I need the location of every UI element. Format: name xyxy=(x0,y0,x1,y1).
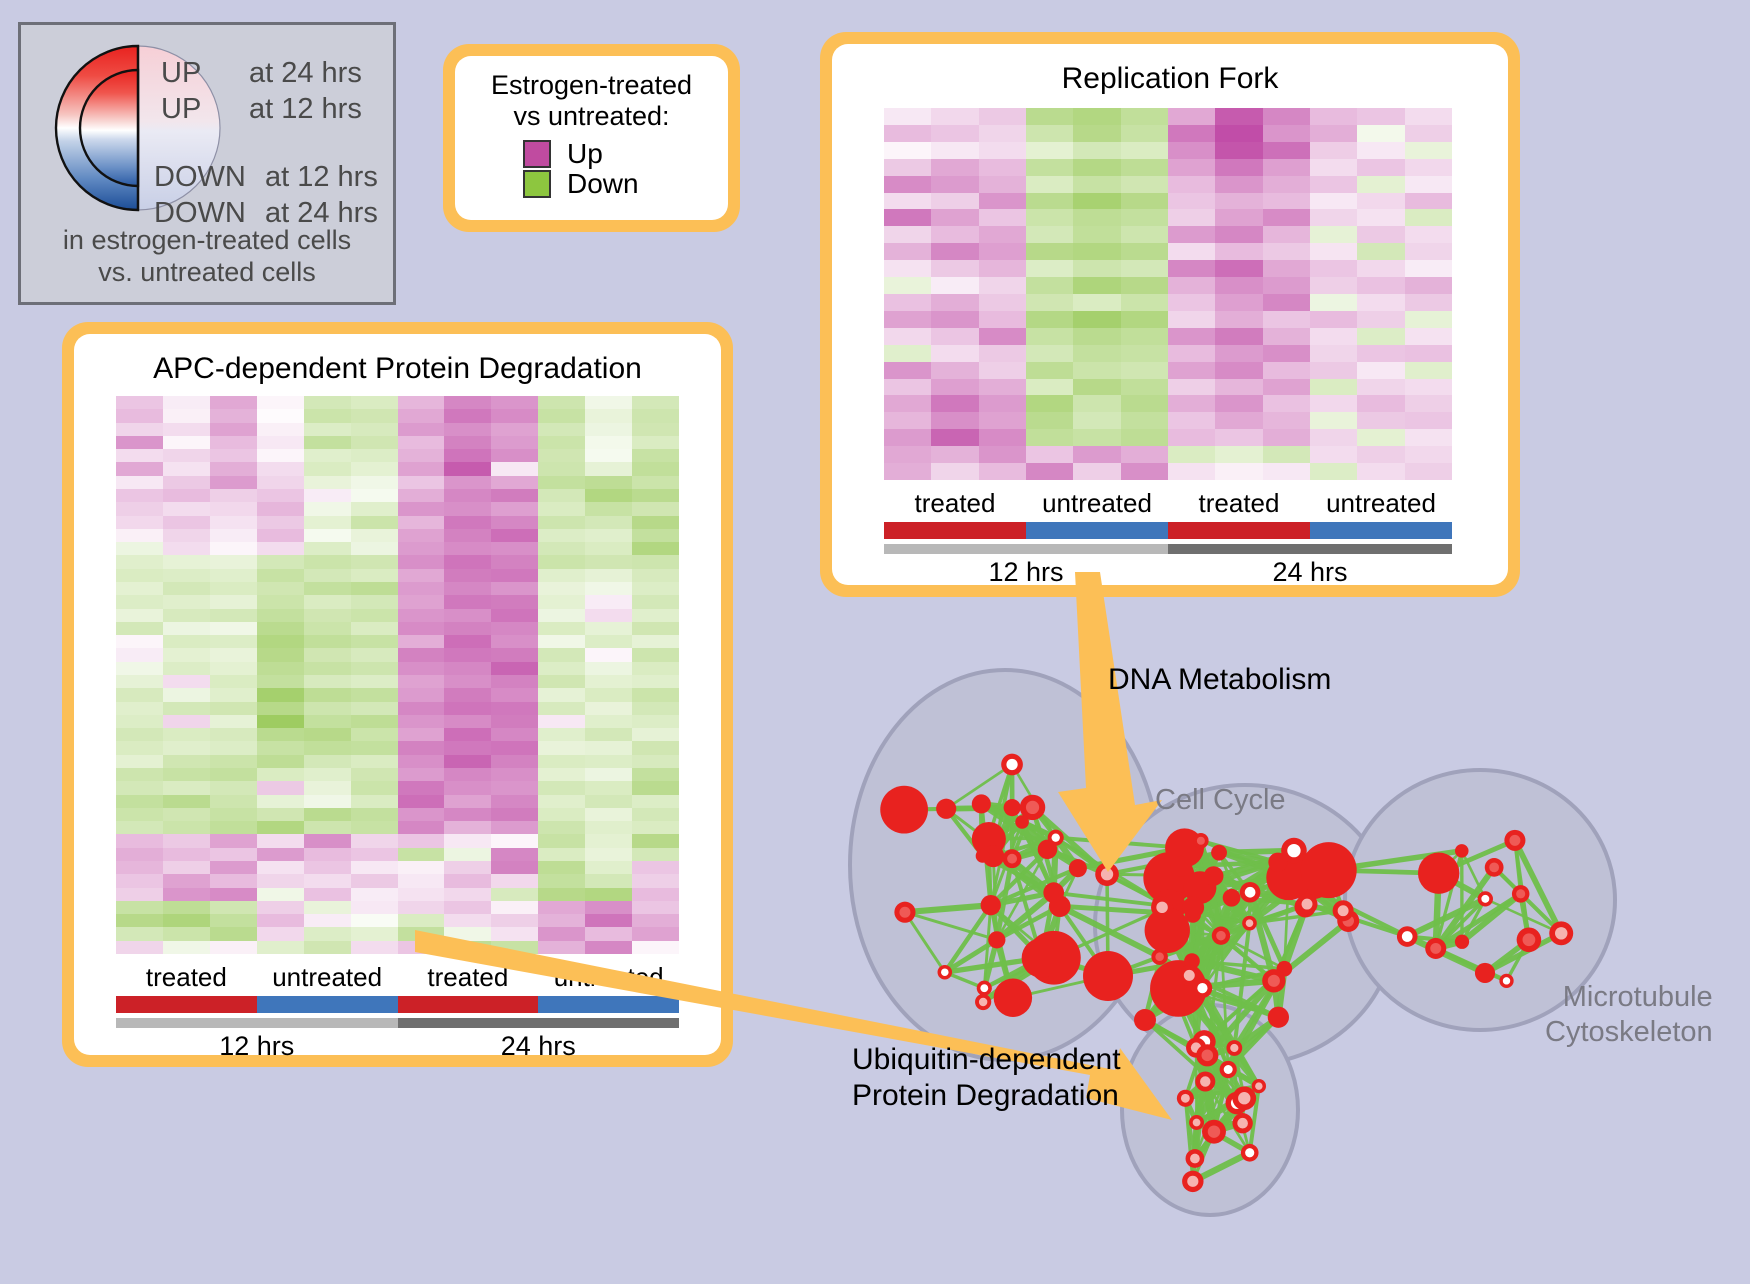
heatmap-cell xyxy=(210,648,257,661)
heatmap-cell xyxy=(931,176,978,193)
heatmap-cell xyxy=(491,409,538,422)
heatmap-cell xyxy=(351,914,398,927)
heatmap-cell xyxy=(163,462,210,475)
heatmap-cell xyxy=(979,209,1026,226)
network-node-core xyxy=(979,998,987,1006)
heatmap-cell xyxy=(210,795,257,808)
heatmap-cell xyxy=(632,542,679,555)
wheel-caption: in estrogen-treated cells vs. untreated … xyxy=(21,225,393,289)
heatmap-cell xyxy=(1357,395,1404,412)
heatmap-cell xyxy=(1121,429,1168,446)
network-node-core xyxy=(1481,895,1489,903)
heatmap-cell xyxy=(632,569,679,582)
heatmap-cell xyxy=(585,834,632,847)
heatmap-cell xyxy=(1357,193,1404,210)
heatmap-cell xyxy=(398,489,445,502)
heatmap-cell xyxy=(351,834,398,847)
network-node xyxy=(988,931,1005,948)
heatmap-cell xyxy=(1357,446,1404,463)
heatmap-cell xyxy=(632,595,679,608)
heatmap-cell xyxy=(210,808,257,821)
heatmap-cell xyxy=(1168,463,1215,480)
condition-label: untreated xyxy=(257,962,398,993)
heatmap-cell xyxy=(585,808,632,821)
heatmap-cell xyxy=(931,108,978,125)
heatmap-cell xyxy=(351,542,398,555)
heatmap-cell xyxy=(1405,294,1452,311)
heatmap-cell xyxy=(444,874,491,887)
replication-fork-time-labels: 12 hrs24 hrs xyxy=(884,557,1452,588)
heatmap-cell xyxy=(444,436,491,449)
time-label: 24 hrs xyxy=(398,1031,680,1062)
heatmap-cell xyxy=(1026,362,1073,379)
heatmap-cell xyxy=(1073,209,1120,226)
heatmap-cell xyxy=(116,635,163,648)
heatmap-cell xyxy=(351,768,398,781)
condition-label: treated xyxy=(116,962,257,993)
heatmap-cell xyxy=(116,755,163,768)
network-node xyxy=(981,895,1001,915)
heatmap-cell xyxy=(210,941,257,954)
heatmap-cell xyxy=(1215,311,1262,328)
condition-colour-segment xyxy=(1168,522,1310,539)
heatmap-cell xyxy=(257,768,304,781)
heatmap-cell xyxy=(116,502,163,515)
label-ubiquitin-protein-degradation: Ubiquitin-dependent Protein Degradation xyxy=(852,1042,1121,1114)
heatmap-cell xyxy=(163,449,210,462)
heatmap-cell xyxy=(1073,193,1120,210)
heatmap-cell xyxy=(884,463,931,480)
heatmap-cell xyxy=(585,941,632,954)
heatmap-cell xyxy=(257,781,304,794)
heatmap-cell xyxy=(585,702,632,715)
heatmap-cell xyxy=(304,888,351,901)
heatmap-cell xyxy=(351,569,398,582)
heatmap-cell xyxy=(1405,176,1452,193)
heatmap-cell xyxy=(491,462,538,475)
heatmap-cell xyxy=(116,436,163,449)
apc-condition-bar xyxy=(116,996,679,1013)
heatmap-cell xyxy=(1026,277,1073,294)
heatmap-cell xyxy=(1405,412,1452,429)
heatmap-cell xyxy=(304,436,351,449)
heatmap-cell xyxy=(538,834,585,847)
heatmap-cell xyxy=(1026,379,1073,396)
network-node xyxy=(1182,897,1204,919)
heatmap-cell xyxy=(632,821,679,834)
heatmap-cell xyxy=(538,688,585,701)
condition-colour-segment xyxy=(884,522,1026,539)
heatmap-cell xyxy=(351,662,398,675)
heatmap-cell xyxy=(163,476,210,489)
heatmap-cell xyxy=(304,702,351,715)
heatmap-cell xyxy=(257,702,304,715)
heatmap-cell xyxy=(1168,379,1215,396)
heatmap-cell xyxy=(538,848,585,861)
heatmap-cell xyxy=(116,462,163,475)
heatmap-cell xyxy=(444,516,491,529)
heatmap-cell xyxy=(444,569,491,582)
heatmap-cell xyxy=(257,489,304,502)
heatmap-cell xyxy=(210,582,257,595)
heatmap-cell xyxy=(632,409,679,422)
network-node-core xyxy=(1007,854,1017,864)
heatmap-cell xyxy=(351,529,398,542)
heatmap-cell xyxy=(1121,243,1168,260)
heatmap-cell xyxy=(1073,108,1120,125)
heatmap-cell xyxy=(1405,193,1452,210)
heatmap-cell xyxy=(257,648,304,661)
heatmap-cell xyxy=(538,901,585,914)
heatmap-cell xyxy=(1310,243,1357,260)
heatmap-cell xyxy=(1168,193,1215,210)
heatmap-cell xyxy=(632,755,679,768)
heatmap-cell xyxy=(304,648,351,661)
heatmap-cell xyxy=(1073,328,1120,345)
heatmap-cell xyxy=(538,516,585,529)
network-node-core xyxy=(1268,975,1280,987)
heatmap-cell xyxy=(351,516,398,529)
heatmap-cell xyxy=(1405,395,1452,412)
heatmap-cell xyxy=(210,702,257,715)
heatmap-cell xyxy=(210,409,257,422)
heatmap-cell xyxy=(398,874,445,887)
network-node-core xyxy=(1338,905,1349,916)
heatmap-cell xyxy=(585,861,632,874)
heatmap-cell xyxy=(538,423,585,436)
heatmap-cell xyxy=(163,941,210,954)
heatmap-cell xyxy=(632,476,679,489)
heatmap-cell xyxy=(257,728,304,741)
heatmap-cell xyxy=(884,108,931,125)
heatmap-cell xyxy=(538,715,585,728)
heatmap-cell xyxy=(1121,277,1168,294)
heatmap-cell xyxy=(1073,142,1120,159)
heatmap-cell xyxy=(491,648,538,661)
heatmap-cell xyxy=(1121,412,1168,429)
heatmap-cell xyxy=(304,396,351,409)
heatmap-cell xyxy=(491,622,538,635)
heatmap-cell xyxy=(979,142,1026,159)
heatmap-cell xyxy=(1121,463,1168,480)
heatmap-cell xyxy=(163,609,210,622)
heatmap-cell xyxy=(1310,446,1357,463)
heatmap-cell xyxy=(491,914,538,927)
heatmap-cell xyxy=(1405,277,1452,294)
heatmap-cell xyxy=(538,821,585,834)
heatmap-cell xyxy=(1121,108,1168,125)
heatmap-cell xyxy=(585,502,632,515)
heatmap-cell xyxy=(1215,429,1262,446)
heatmap-cell xyxy=(538,436,585,449)
heatmap-cell xyxy=(585,662,632,675)
heatmap-cell xyxy=(351,675,398,688)
heatmap-cell xyxy=(116,476,163,489)
network-node xyxy=(1069,859,1087,877)
heatmap-cell xyxy=(585,423,632,436)
heatmap-cell xyxy=(1263,260,1310,277)
colour-wheel-legend-box: UP at 24 hrs UP at 12 hrs DOWN at 12 hrs… xyxy=(18,22,396,305)
heatmap-cell xyxy=(931,429,978,446)
heatmap-cell xyxy=(210,901,257,914)
heatmap-cell xyxy=(1310,328,1357,345)
heatmap-cell xyxy=(116,901,163,914)
heatmap-cell xyxy=(116,861,163,874)
heatmap-cell xyxy=(257,569,304,582)
heatmap-cell xyxy=(304,688,351,701)
network-node-core xyxy=(1509,835,1520,846)
heatmap-cell xyxy=(398,888,445,901)
heatmap-cell xyxy=(163,808,210,821)
heatmap-cell xyxy=(884,243,931,260)
network-node xyxy=(1043,882,1064,903)
label-dna-metabolism: DNA Metabolism xyxy=(1108,662,1331,698)
heatmap-cell xyxy=(1310,260,1357,277)
heatmap-cell xyxy=(1310,193,1357,210)
heatmap-cell xyxy=(257,595,304,608)
heatmap-cell xyxy=(979,226,1026,243)
heatmap-cell xyxy=(1405,311,1452,328)
heatmap-cell xyxy=(884,412,931,429)
heatmap-cell xyxy=(210,888,257,901)
heatmap-cell xyxy=(1215,209,1262,226)
heatmap-cell xyxy=(632,675,679,688)
heatmap-cell xyxy=(163,834,210,847)
heatmap-cell xyxy=(632,741,679,754)
heatmap-cell xyxy=(210,755,257,768)
heatmap-cell xyxy=(351,795,398,808)
time-colour-segment xyxy=(1168,544,1452,554)
up-swatch xyxy=(523,140,551,168)
heatmap-cell xyxy=(632,449,679,462)
network-node-core xyxy=(899,907,910,918)
heatmap-cell xyxy=(1168,226,1215,243)
heatmap-cell xyxy=(163,396,210,409)
heatmap-cell xyxy=(163,529,210,542)
heatmap-cell xyxy=(1121,395,1168,412)
network-node xyxy=(1455,935,1469,949)
heatmap-cell xyxy=(444,396,491,409)
heatmap-cell xyxy=(491,755,538,768)
heatmap-cell xyxy=(1310,412,1357,429)
network-node xyxy=(1268,1007,1289,1028)
network-node-core xyxy=(1230,1044,1238,1052)
heatmap-cell xyxy=(1073,395,1120,412)
heatmap-cell xyxy=(304,808,351,821)
heatmap-cell xyxy=(1263,311,1310,328)
heatmap-cell xyxy=(1168,446,1215,463)
heatmap-cell xyxy=(1357,463,1404,480)
heatmap-cell xyxy=(351,808,398,821)
heatmap-cell xyxy=(444,741,491,754)
heatmap-cell xyxy=(1310,311,1357,328)
heatmap-cell xyxy=(1215,412,1262,429)
network-node xyxy=(1134,1009,1156,1031)
heatmap-cell xyxy=(585,476,632,489)
heatmap-cell xyxy=(257,808,304,821)
heatmap-cell xyxy=(257,609,304,622)
heatmap-cell xyxy=(931,311,978,328)
heatmap-cell xyxy=(398,821,445,834)
heatmap-cell xyxy=(632,688,679,701)
heatmap-cell xyxy=(979,328,1026,345)
heatmap-cell xyxy=(491,702,538,715)
heatmap-cell xyxy=(632,941,679,954)
heatmap-cell xyxy=(304,476,351,489)
heatmap-cell xyxy=(1310,108,1357,125)
heatmap-cell xyxy=(491,874,538,887)
heatmap-cell xyxy=(585,648,632,661)
heatmap-cell xyxy=(585,449,632,462)
network-node-core xyxy=(1489,862,1499,872)
heatmap-cell xyxy=(351,648,398,661)
heatmap-cell xyxy=(884,294,931,311)
heatmap-cell xyxy=(257,675,304,688)
heatmap-cell xyxy=(398,609,445,622)
heatmap-cell xyxy=(257,462,304,475)
heatmap-cell xyxy=(398,502,445,515)
heatmap-cell xyxy=(351,423,398,436)
heatmap-cell xyxy=(210,423,257,436)
heatmap-cell xyxy=(1263,328,1310,345)
heatmap-cell xyxy=(210,861,257,874)
network-node xyxy=(1211,845,1227,861)
heatmap-cell xyxy=(351,622,398,635)
heatmap-cell xyxy=(1215,193,1262,210)
heatmap-cell xyxy=(538,768,585,781)
heatmap-cell xyxy=(884,142,931,159)
heatmap-cell xyxy=(632,808,679,821)
heatmap-cell xyxy=(931,328,978,345)
heatmap-cell xyxy=(538,728,585,741)
heatmap-cell xyxy=(632,436,679,449)
heatmap-cell xyxy=(491,635,538,648)
heatmap-cell xyxy=(210,688,257,701)
heatmap-cell xyxy=(1405,328,1452,345)
heatmap-cell xyxy=(257,795,304,808)
heatmap-cell xyxy=(257,635,304,648)
heatmap-cell xyxy=(351,609,398,622)
heatmap-cell xyxy=(444,502,491,515)
heatmap-cell xyxy=(444,795,491,808)
network-node xyxy=(1015,815,1029,829)
heatmap-cell xyxy=(1263,412,1310,429)
heatmap-cell xyxy=(304,582,351,595)
heatmap-cell xyxy=(585,795,632,808)
heatmap-cell xyxy=(1263,159,1310,176)
heatmap-cell xyxy=(351,582,398,595)
network-node xyxy=(1301,842,1357,898)
heatmap-cell xyxy=(163,821,210,834)
heatmap-cell xyxy=(351,901,398,914)
heatmap-cell xyxy=(538,529,585,542)
heatmap-cell xyxy=(210,529,257,542)
heatmap-cell xyxy=(931,159,978,176)
heatmap-cell xyxy=(257,848,304,861)
heatmap-cell xyxy=(163,409,210,422)
network-node-core xyxy=(1156,902,1167,913)
heatmap-cell xyxy=(884,209,931,226)
heatmap-cell xyxy=(1168,209,1215,226)
heatmap-cell xyxy=(257,821,304,834)
heatmap-cell xyxy=(1405,142,1452,159)
heatmap-cell xyxy=(632,901,679,914)
heatmap-cell xyxy=(1357,260,1404,277)
heatmap-cell xyxy=(1357,379,1404,396)
heatmap-cell xyxy=(210,462,257,475)
heatmap-cell xyxy=(398,795,445,808)
heatmap-cell xyxy=(210,781,257,794)
heatmap-cell xyxy=(979,345,1026,362)
heatmap-cell xyxy=(1168,260,1215,277)
heatmap-cell xyxy=(632,622,679,635)
heatmap-cell xyxy=(257,874,304,887)
heatmap-cell xyxy=(1073,125,1120,142)
network-node xyxy=(994,978,1032,1016)
heatmap-cell xyxy=(491,582,538,595)
condition-colour-segment xyxy=(1026,522,1168,539)
heatmap-cell xyxy=(1026,243,1073,260)
heatmap-cell xyxy=(979,243,1026,260)
heatmap-cell xyxy=(1215,176,1262,193)
heatmap-cell xyxy=(1357,108,1404,125)
heatmap-cell xyxy=(304,768,351,781)
heatmap-cell xyxy=(931,463,978,480)
heatmap-cell xyxy=(444,662,491,675)
heatmap-cell xyxy=(1357,159,1404,176)
heatmap-cell xyxy=(931,395,978,412)
heatmap-cell xyxy=(1263,463,1310,480)
heatmap-cell xyxy=(1073,260,1120,277)
heatmap-cell xyxy=(163,569,210,582)
network-node-core xyxy=(1193,1119,1201,1127)
heatmap-cell xyxy=(210,609,257,622)
heatmap-cell xyxy=(116,489,163,502)
heatmap-cell xyxy=(163,888,210,901)
heatmap-cell xyxy=(1168,328,1215,345)
heatmap-cell xyxy=(444,755,491,768)
heatmap-cell xyxy=(632,888,679,901)
network-node-core xyxy=(1155,952,1164,961)
heatmap-cell xyxy=(931,193,978,210)
heatmap-cell xyxy=(398,449,445,462)
heatmap-cell xyxy=(304,941,351,954)
heatmap-cell xyxy=(979,463,1026,480)
heatmap-cell xyxy=(491,423,538,436)
heatmap-cell xyxy=(491,781,538,794)
heatmap-cell xyxy=(1357,362,1404,379)
heatmap-cell xyxy=(304,795,351,808)
heatmap-cell xyxy=(1263,125,1310,142)
heatmap-cell xyxy=(931,209,978,226)
heatmap-cell xyxy=(163,848,210,861)
heatmap-cell xyxy=(398,582,445,595)
heatmap-cell xyxy=(444,449,491,462)
pathway-network: DNA Metabolism Cell Cycle Microtubule Cy… xyxy=(790,600,1750,1279)
heatmap-cell xyxy=(585,821,632,834)
heatmap-cell xyxy=(1263,294,1310,311)
heatmap-cell xyxy=(444,489,491,502)
heatmap-cell xyxy=(210,542,257,555)
heatmap-cell xyxy=(491,861,538,874)
heatmap-cell xyxy=(491,768,538,781)
heatmap-cell xyxy=(116,874,163,887)
heatmap-cell xyxy=(585,901,632,914)
heatmap-cell xyxy=(585,715,632,728)
heatmap-cell xyxy=(632,768,679,781)
heatmap-cell xyxy=(1405,108,1452,125)
heatmap-cell xyxy=(351,821,398,834)
